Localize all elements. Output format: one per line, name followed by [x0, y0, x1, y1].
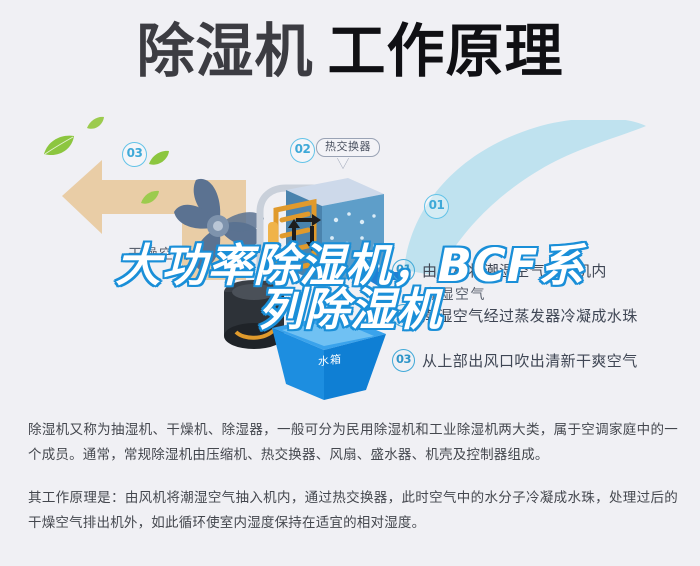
- legend-item: 02 潮湿空气经过蒸发器冷凝成水珠: [392, 293, 692, 338]
- diagram-badge-02: 02: [290, 138, 315, 163]
- body-paragraph-1: 除湿机又称为抽湿机、干燥机、除湿器，一般可分为民用除湿机和工业除湿机两大类，属于…: [28, 418, 678, 468]
- legend-badge-03: 03: [392, 349, 415, 372]
- legend-item: 03 从上部出风口吹出清新干爽空气: [392, 338, 692, 383]
- page-title-part-1: 除湿机: [136, 17, 313, 85]
- body-paragraph-2: 其工作原理是：由风机将潮湿空气抽入机内，通过热交换器，此时空气中的水分子冷凝成水…: [28, 486, 678, 536]
- diagram-badge-03: 03: [122, 142, 147, 167]
- diagram-badge-01: 01: [424, 194, 449, 219]
- legend-list: 01 由风机将潮湿空气抽入机内 02 潮湿空气经过蒸发器冷凝成水珠 03 从上部…: [392, 248, 692, 383]
- legend-text-03: 从上部出风口吹出清新干爽空气: [422, 350, 638, 371]
- leaf-icon: [140, 190, 160, 206]
- dry-air-label: 干燥空气: [128, 244, 190, 264]
- legend-badge-01: 01: [392, 259, 415, 282]
- page-title-part-2: 工作原理: [328, 17, 564, 85]
- heat-exchanger-callout-label: 热交换器: [316, 138, 380, 157]
- page-title: 除湿机工作原理: [0, 22, 700, 80]
- legend-badge-02: 02: [392, 304, 415, 327]
- water-tank-label: 水箱: [318, 351, 342, 370]
- leaf-icon: [86, 116, 105, 131]
- leaf-icon: [148, 150, 170, 167]
- leaf-icon: [42, 134, 76, 158]
- legend-text-01: 由风机将潮湿空气抽入机内: [422, 260, 607, 281]
- body-copy: 除湿机又称为抽湿机、干燥机、除湿器，一般可分为民用除湿机和工业除湿机两大类，属于…: [28, 418, 678, 554]
- callout-tail-icon: [337, 157, 349, 168]
- legend-text-02: 潮湿空气经过蒸发器冷凝成水珠: [422, 305, 638, 326]
- legend-item: 01 由风机将潮湿空气抽入机内: [392, 248, 692, 293]
- infographic-page: 除湿机工作原理: [0, 0, 700, 566]
